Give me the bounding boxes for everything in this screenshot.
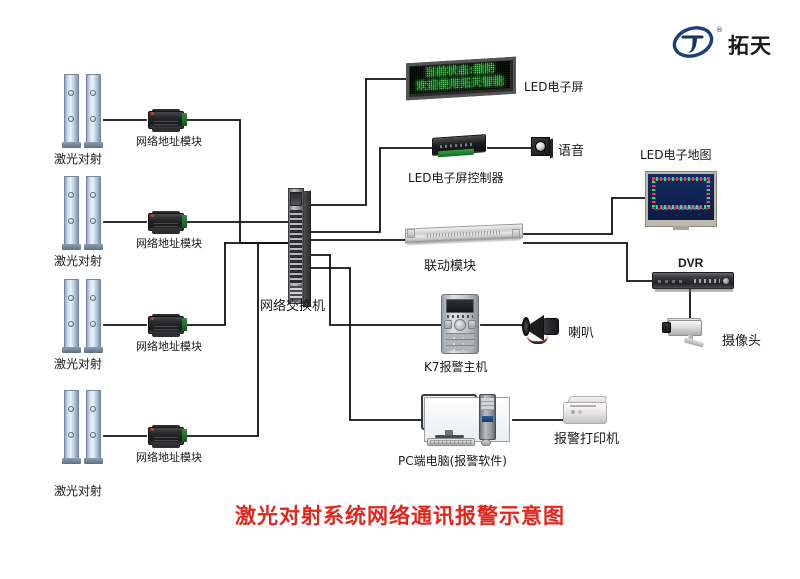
pc-workstation[interactable] xyxy=(421,394,513,446)
map-led-row-top xyxy=(652,177,710,181)
led-map-label: LED电子地图 xyxy=(640,146,712,163)
switch-side xyxy=(303,191,311,308)
laser-post-right xyxy=(86,279,101,349)
terminal-block xyxy=(182,215,187,228)
k7-indicators xyxy=(447,315,473,318)
laser-lens-icon xyxy=(68,116,74,122)
pc-drive-bay xyxy=(481,398,494,410)
wire-linkage-dvr xyxy=(524,243,653,281)
module-print xyxy=(154,326,178,331)
network-address-module-3-label: 网络地址模块 xyxy=(136,338,202,354)
laser-post-right xyxy=(86,176,101,246)
status-led-icon xyxy=(151,112,154,115)
laser-post-left xyxy=(64,390,79,460)
pc-workstation-label: PC端电脑(报警软件) xyxy=(398,452,507,469)
controller-terminal-block xyxy=(438,149,474,158)
led-display-board[interactable]: 当前状态:撤防 欢迎使用拓天智能 xyxy=(406,60,516,97)
diagram-title: 激光对射系统网络通讯报警示意图 xyxy=(0,500,800,530)
laser-lens-icon xyxy=(68,295,74,301)
printer-button[interactable] xyxy=(571,410,575,414)
laser-post-right xyxy=(86,74,101,144)
module-tab-bottom xyxy=(152,230,180,234)
camera-body xyxy=(668,320,702,336)
alarm-horn-label: 喇叭 xyxy=(568,322,594,341)
laser-sensor-3[interactable] xyxy=(62,279,108,355)
laser-post-left xyxy=(64,74,79,144)
status-led-icon xyxy=(151,317,154,320)
laser-base xyxy=(62,347,81,353)
laser-sensor-4[interactable] xyxy=(62,390,108,466)
network-switch[interactable] xyxy=(284,188,314,306)
laser-post-right xyxy=(86,390,101,460)
laser-sensor-2[interactable] xyxy=(62,176,108,252)
alarm-printer[interactable] xyxy=(563,396,609,426)
laser-lens-icon xyxy=(68,406,74,412)
k7-alarm-host[interactable] xyxy=(441,294,481,356)
diagram-canvas: ® 拓天 xyxy=(0,0,800,579)
wire-switch-pc xyxy=(310,268,422,420)
dvr-label: DVR xyxy=(678,256,703,270)
k7-keypad[interactable] xyxy=(446,333,474,351)
laser-sensor-4-label: 激光对射 xyxy=(54,482,102,499)
laser-lens-icon xyxy=(90,116,96,122)
module-tab-bottom xyxy=(152,444,180,448)
network-switch-label: 网络交换机 xyxy=(260,295,325,314)
alarm-horn[interactable] xyxy=(524,313,564,343)
laser-base xyxy=(84,347,103,353)
k7-soft-key-left[interactable] xyxy=(444,320,452,329)
laser-lens-icon xyxy=(68,192,74,198)
dvr-status-leds xyxy=(658,280,684,283)
wire-switch-k7 xyxy=(310,255,442,325)
laser-post-left xyxy=(64,279,79,349)
wire-linkage-ledmap xyxy=(524,198,646,234)
laser-sensor-3-label: 激光对射 xyxy=(54,355,102,372)
laser-sensor-1[interactable] xyxy=(62,74,108,150)
map-stand xyxy=(673,226,689,230)
camera-bracket xyxy=(684,337,705,347)
keyboard[interactable] xyxy=(427,438,475,446)
cctv-camera[interactable] xyxy=(662,318,718,350)
camera-lens-icon xyxy=(662,322,671,333)
laser-lens-icon xyxy=(90,295,96,301)
switch-ports xyxy=(290,210,302,284)
laser-lens-icon xyxy=(68,218,74,224)
terminal-block xyxy=(182,318,187,331)
k7-alarm-host-label: K7报警主机 xyxy=(424,358,488,375)
dvr-recorder[interactable] xyxy=(652,272,736,294)
led-display-board-label: LED电子屏 xyxy=(524,78,584,95)
voice-announcer[interactable] xyxy=(531,137,553,159)
dvr-buttons[interactable] xyxy=(694,279,720,283)
led-screen-controller[interactable] xyxy=(432,134,490,160)
module-tab-bottom xyxy=(152,128,180,132)
module-print xyxy=(154,121,178,126)
dvr-shadow xyxy=(655,288,733,292)
network-address-module-4-label: 网络地址模块 xyxy=(136,449,202,465)
led-screen-controller-label: LED电子屏控制器 xyxy=(408,169,504,186)
laser-lens-icon xyxy=(90,321,96,327)
led-electronic-map[interactable]: 拓天电子地图报警状态 xyxy=(645,171,717,227)
laser-lens-icon xyxy=(90,406,96,412)
network-address-module-4[interactable] xyxy=(146,424,188,448)
laser-base xyxy=(84,142,103,148)
wire-switch-ledcontroller xyxy=(310,148,434,232)
laser-lens-icon xyxy=(90,192,96,198)
status-led-icon xyxy=(151,214,154,217)
module-tab-bottom xyxy=(152,333,180,337)
dvr-jog-dial[interactable] xyxy=(722,277,730,285)
voice-announcer-label: 语音 xyxy=(558,140,584,159)
laser-lens-icon xyxy=(68,90,74,96)
k7-soft-key-right[interactable] xyxy=(468,320,476,329)
laser-base xyxy=(84,244,103,250)
network-address-module-2[interactable] xyxy=(146,210,188,234)
mouse[interactable] xyxy=(481,439,491,446)
status-led-icon xyxy=(151,428,154,431)
switch-top-panel xyxy=(290,192,302,206)
network-address-module-1[interactable] xyxy=(146,108,188,132)
module-print xyxy=(154,223,178,228)
network-address-module-3[interactable] xyxy=(146,313,188,337)
wire-switch-ledboard xyxy=(310,79,408,205)
wire-module3-bus xyxy=(184,243,225,325)
voice-side xyxy=(550,138,553,158)
map-screen-caption: 拓天电子地图报警状态 xyxy=(648,205,714,211)
laser-base xyxy=(62,458,81,464)
laser-sensor-1-label: 激光对射 xyxy=(54,150,102,167)
laser-lens-icon xyxy=(90,218,96,224)
laser-base xyxy=(84,458,103,464)
rack-ear-left xyxy=(407,229,415,238)
horn-wire-black xyxy=(528,336,548,344)
alarm-printer-label: 报警打印机 xyxy=(554,428,619,447)
laser-lens-icon xyxy=(90,90,96,96)
laser-lens-icon xyxy=(68,432,74,438)
network-address-module-2-label: 网络地址模块 xyxy=(136,235,202,251)
laser-post-left xyxy=(64,176,79,246)
k7-navigation-pad[interactable] xyxy=(454,319,466,331)
laser-sensor-2-label: 激光对射 xyxy=(54,252,102,269)
k7-screen xyxy=(446,299,474,313)
linkage-module[interactable] xyxy=(405,226,525,248)
laser-lens-icon xyxy=(90,432,96,438)
printer-paper-slot xyxy=(570,405,596,407)
module-print xyxy=(154,437,178,442)
map-screen: 拓天电子地图报警状态 xyxy=(648,174,714,220)
network-address-module-1-label: 网络地址模块 xyxy=(136,133,202,149)
laser-lens-icon xyxy=(68,321,74,327)
linkage-module-label: 联动模块 xyxy=(424,255,476,274)
terminal-block xyxy=(182,429,187,442)
cctv-camera-label: 摄像头 xyxy=(722,330,761,349)
laser-base xyxy=(62,244,81,250)
pc-front-panel xyxy=(482,416,493,422)
terminal-block xyxy=(182,113,187,126)
speaker-driver-icon xyxy=(535,141,546,152)
printer-indicator xyxy=(578,410,582,414)
laser-base xyxy=(62,142,81,148)
